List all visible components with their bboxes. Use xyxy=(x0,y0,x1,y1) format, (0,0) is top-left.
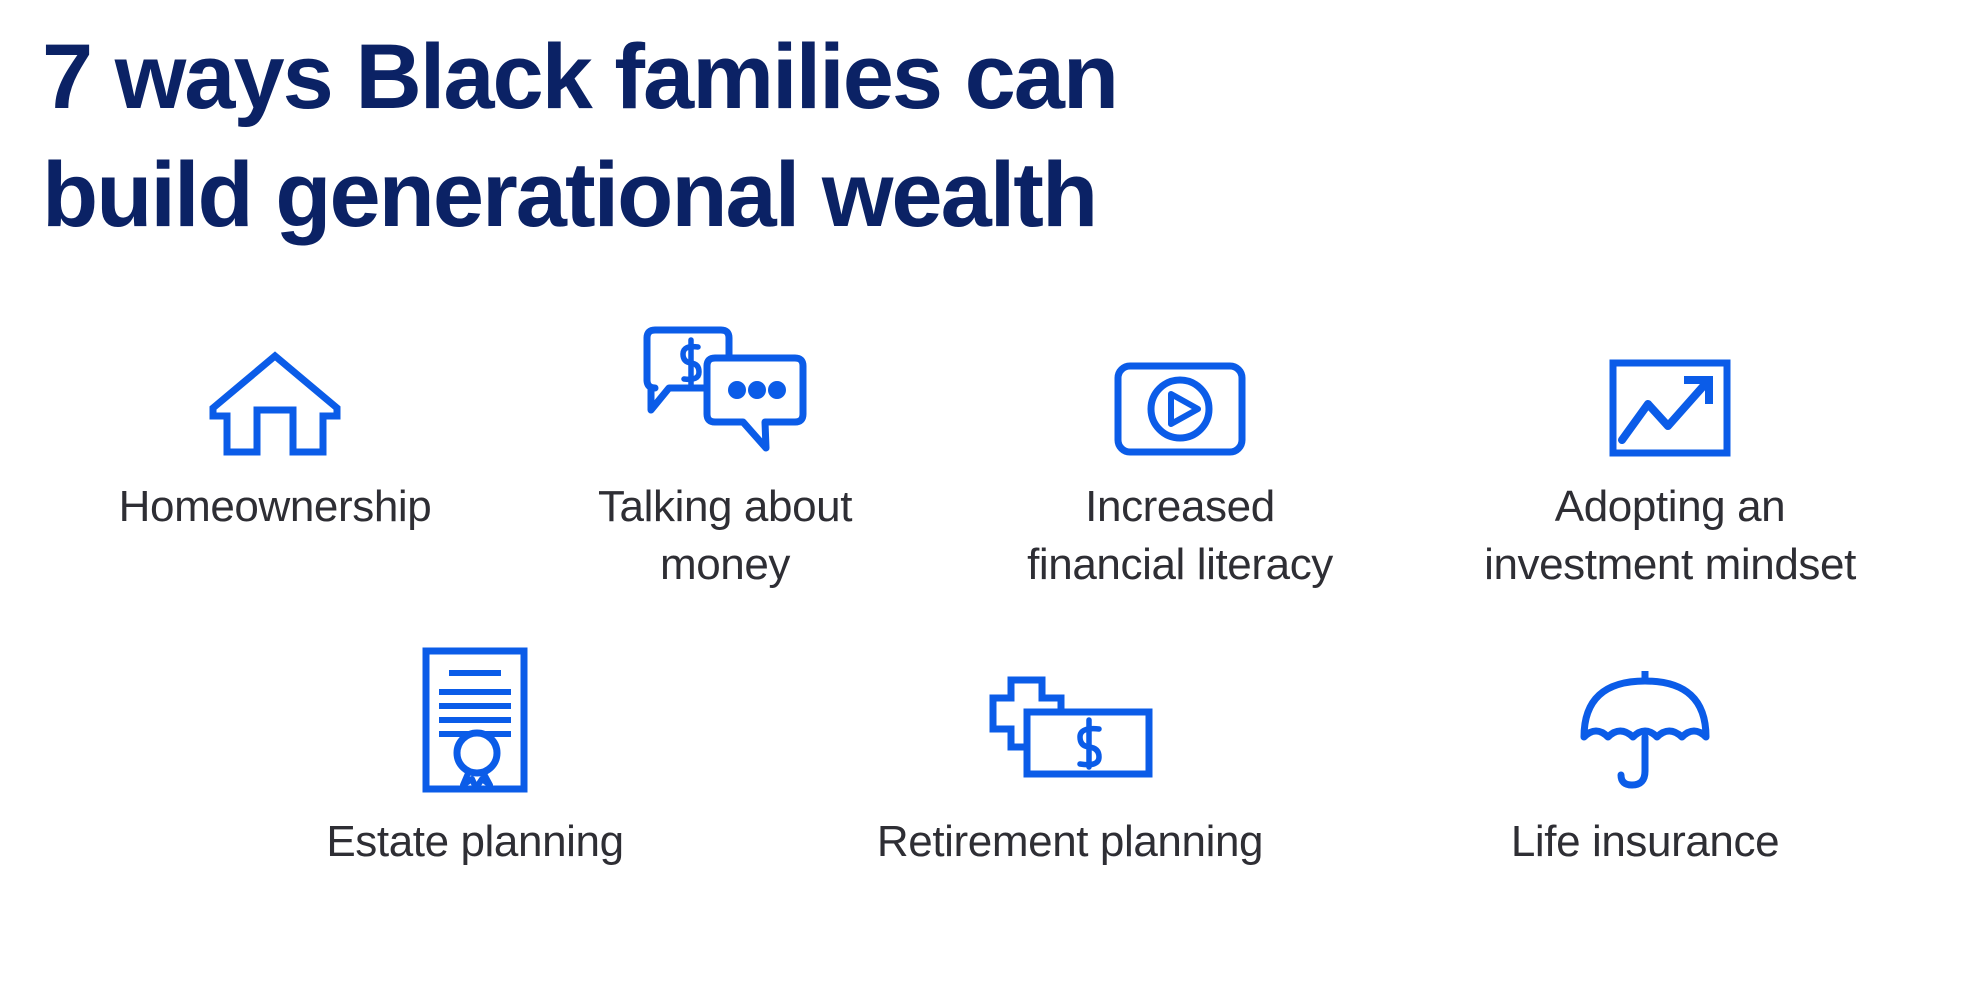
item-label-retirement-planning: Retirement planning xyxy=(877,813,1263,871)
item-retirement-planning: Retirement planning xyxy=(755,665,1385,871)
item-estate-planning: Estate planning xyxy=(195,665,755,871)
item-label-estate-planning: Estate planning xyxy=(326,813,623,871)
page-title: 7 ways Black families can build generati… xyxy=(42,18,1562,254)
house-icon xyxy=(205,330,345,460)
item-label-homeownership: Homeownership xyxy=(119,478,432,536)
item-life-insurance: Life insurance xyxy=(1385,665,1905,871)
item-investment-mindset: Adopting an investment mindset xyxy=(1420,330,1920,594)
certificate-document-icon xyxy=(419,665,531,795)
items-row-bottom: Estate planning Retirement planning xyxy=(195,665,1955,871)
item-label-investment-mindset: Adopting an investment mindset xyxy=(1484,478,1856,594)
page-title-line-2: build generational wealth xyxy=(42,136,1562,254)
item-homeownership: Homeownership xyxy=(40,330,510,536)
video-play-icon xyxy=(1112,330,1248,460)
items-row-top: Homeownership xyxy=(40,330,1950,594)
item-label-life-insurance: Life insurance xyxy=(1511,813,1779,871)
page-title-line-1: 7 ways Black families can xyxy=(42,18,1562,136)
item-talking-about-money: Talking about money xyxy=(510,330,940,594)
infographic-canvas: 7 ways Black families can build generati… xyxy=(0,0,1981,987)
item-label-financial-literacy: Increased financial literacy xyxy=(1027,478,1333,594)
umbrella-icon xyxy=(1575,665,1715,795)
cross-dollar-bill-icon xyxy=(982,665,1158,795)
item-financial-literacy: Increased financial literacy xyxy=(940,330,1420,594)
item-label-talking-about-money: Talking about money xyxy=(598,478,852,594)
speech-bubbles-dollar-icon xyxy=(635,330,815,460)
growth-chart-arrow-icon xyxy=(1606,330,1734,460)
